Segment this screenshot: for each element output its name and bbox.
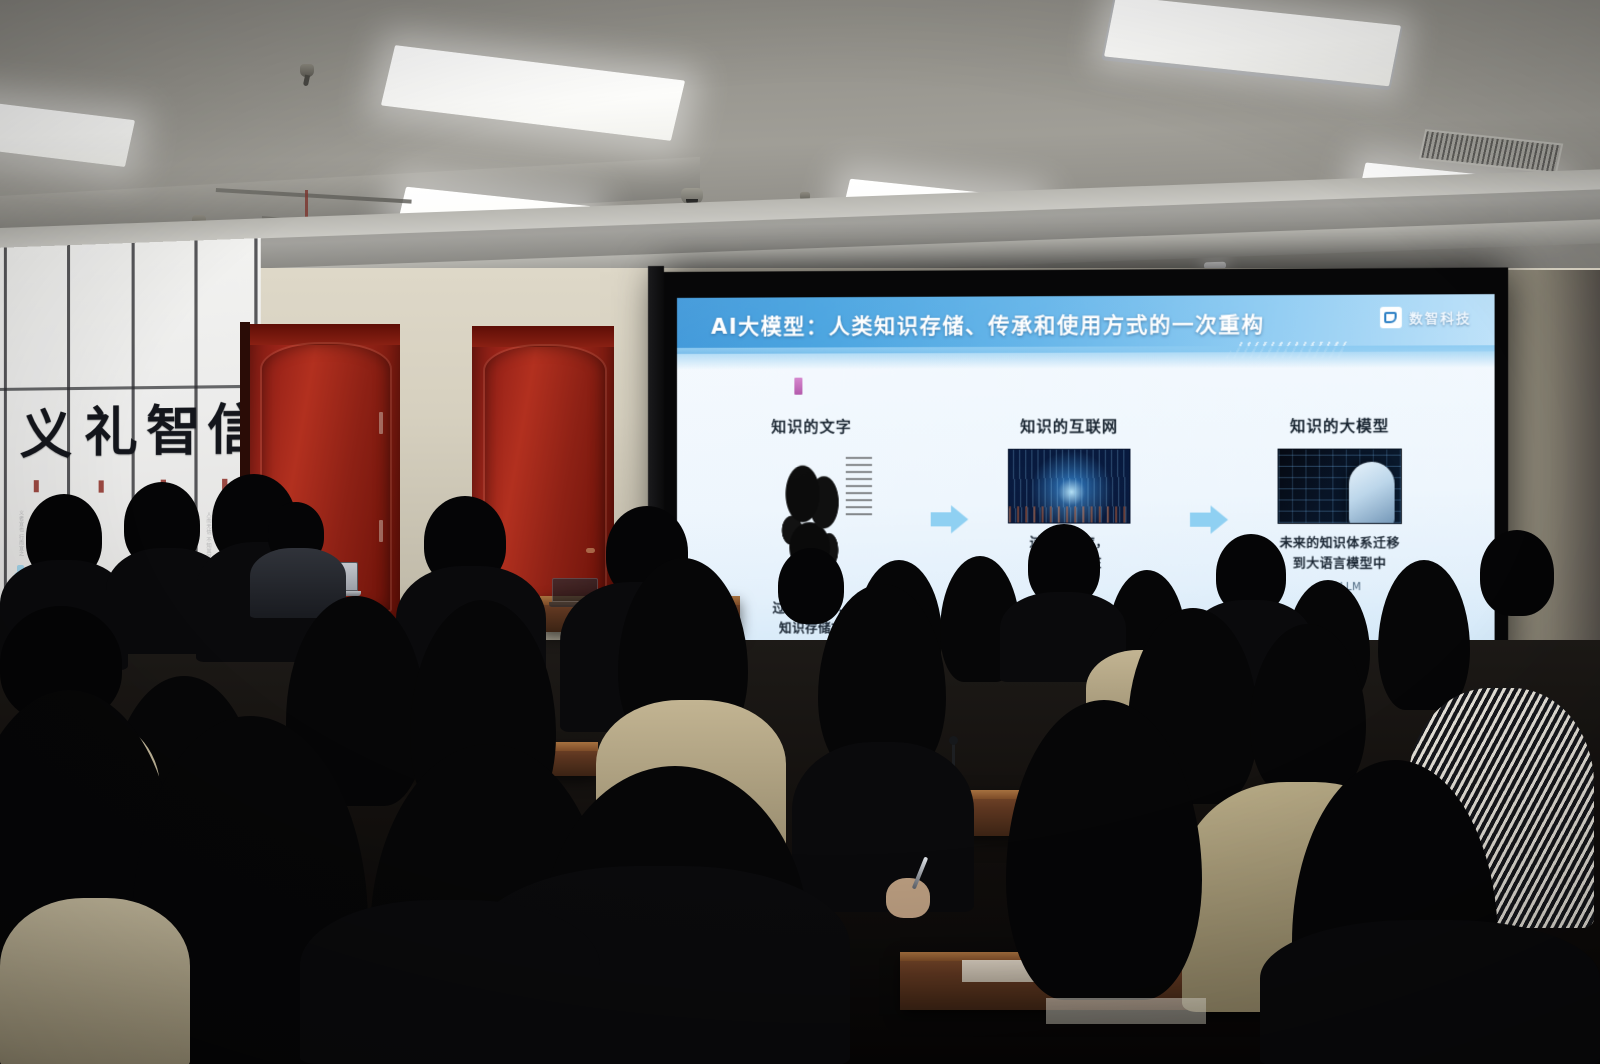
attendee-body-mid-6 <box>792 742 974 912</box>
slide-column-2-heading: 知识的互联网 <box>979 415 1159 436</box>
attendee-body-near-right <box>1260 920 1600 1064</box>
slide-marker <box>794 378 802 395</box>
brand-name: 数智科技 <box>1409 308 1471 328</box>
door-left-hinge-bottom <box>379 520 383 542</box>
slide-title: AI大模型：人类知识存储、传承和使用方式的一次重构 <box>711 308 1265 340</box>
calligraphy-panel-3: 智 <box>146 405 201 459</box>
calligraphy-subtext-1: 义者宜也 行而宜之 <box>18 510 24 568</box>
attendee-body-near-left <box>0 898 190 1064</box>
calligraphy-seal-2 <box>99 480 104 492</box>
slide-column-2-body <box>979 449 1159 524</box>
calligraphy-panel-2: 礼 <box>84 407 138 460</box>
cabinet-horizontal-seam <box>0 385 261 391</box>
door-right-knob[interactable] <box>586 548 595 553</box>
screen-logo-icon <box>1380 307 1402 328</box>
digital-city-photo <box>1008 449 1131 524</box>
desk-paper-3 <box>1046 998 1206 1024</box>
slide-column-3-body <box>1241 449 1438 525</box>
door-left-hinge-top <box>379 412 383 434</box>
hvac-vent <box>1419 129 1564 174</box>
slide-brand: 数智科技 <box>1380 306 1472 328</box>
slide-column-1-heading: 知识的文字 <box>723 416 900 437</box>
ai-robot-photo <box>1278 449 1402 524</box>
sprinkler-head-1 <box>300 64 314 77</box>
attendee-body-near-3 <box>300 900 600 1064</box>
ceiling-panel-light-1 <box>0 97 135 167</box>
presentation-room-scene: 义 义者宜也 行而宜之 礼 礼之用 和为贵 智 智者不惑 信 人而无信 不知其可… <box>0 0 1600 1064</box>
ceiling-panel-light-2 <box>381 45 685 141</box>
attendee-head-far-1 <box>778 548 844 624</box>
ceiling-panel-light-3 <box>1104 0 1401 86</box>
calligraphy-panel-1: 义 <box>20 409 72 462</box>
slide-band-decoration <box>1225 342 1349 359</box>
attendee-head-far-9 <box>1480 530 1554 616</box>
calligraphy-seal-1 <box>34 480 39 492</box>
slide-column-3-heading: 知识的大模型 <box>1241 415 1438 437</box>
attendee-hand-writing <box>886 878 930 918</box>
